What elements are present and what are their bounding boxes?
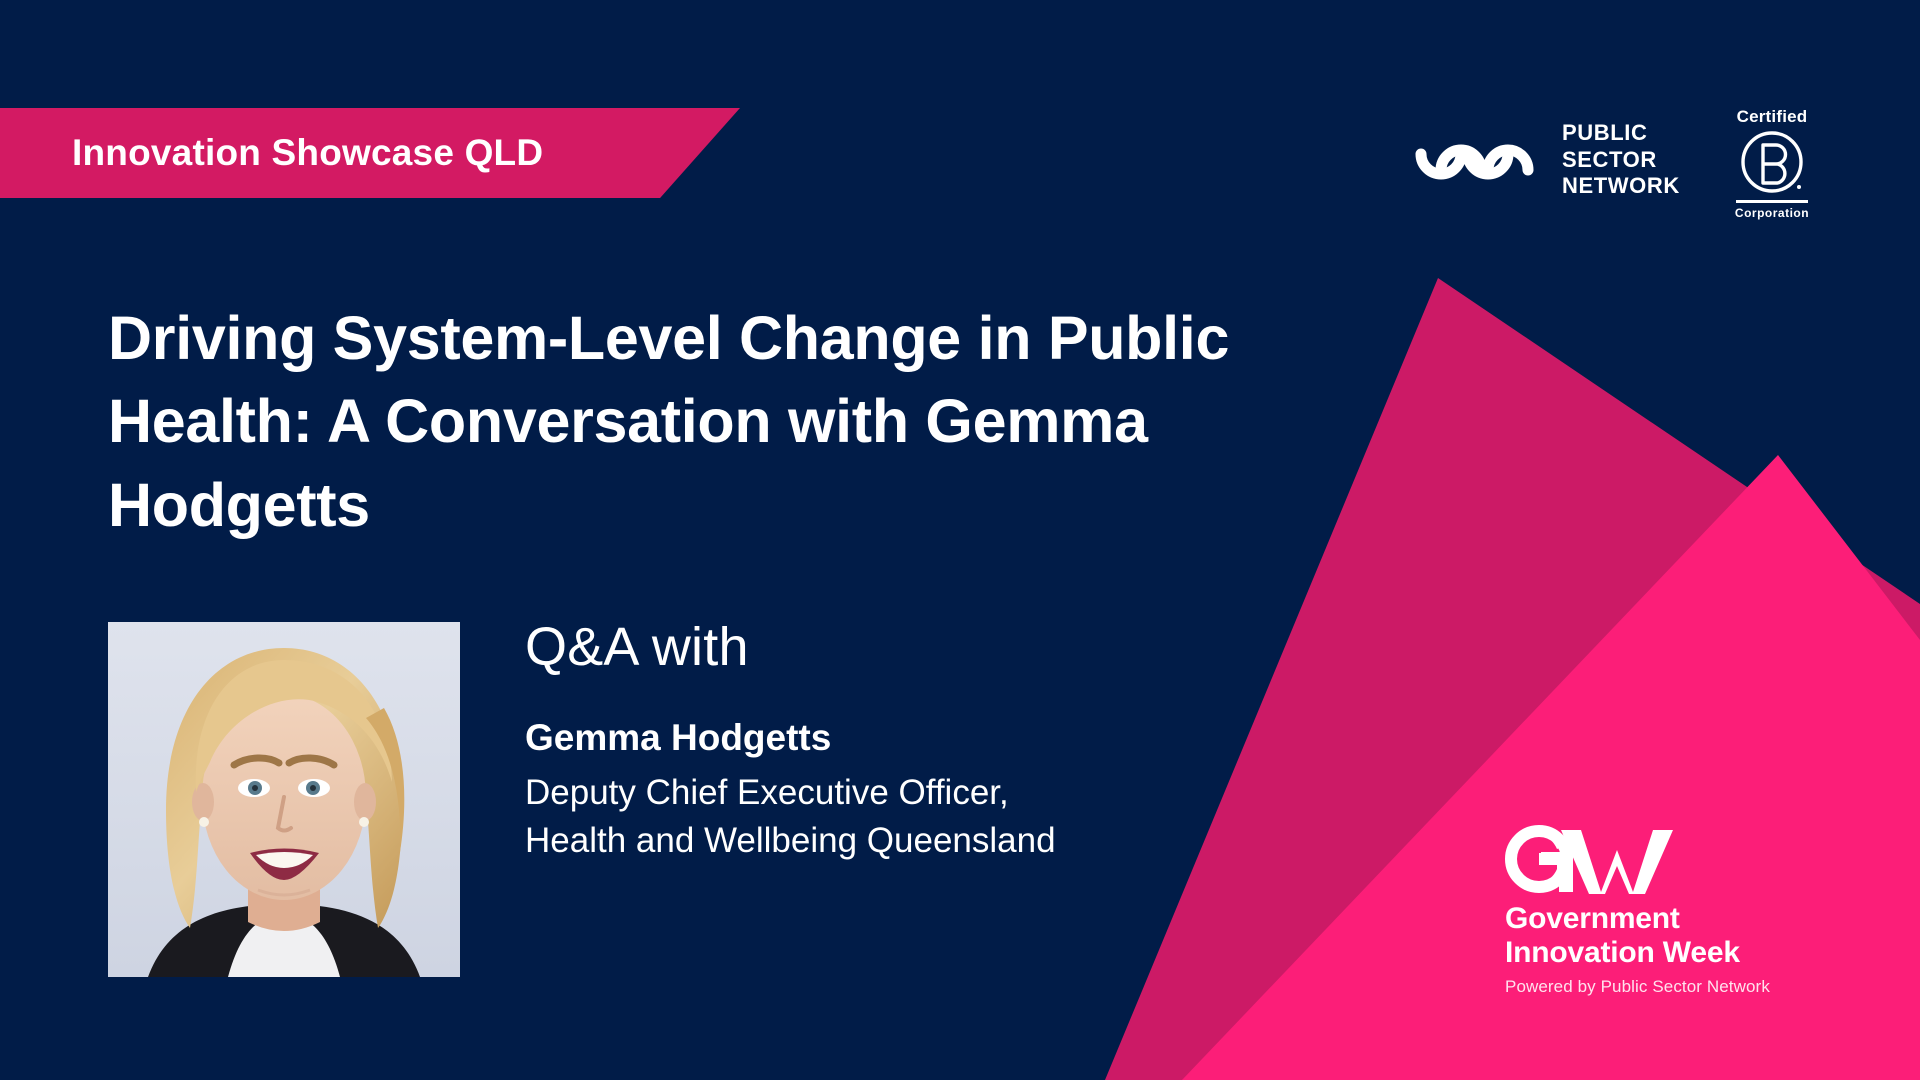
bcorp-b-icon xyxy=(1739,129,1805,195)
event-promo-slide: Innovation Showcase QLD Driving System-L… xyxy=(0,0,1920,1080)
psn-word-line-1: PUBLIC xyxy=(1562,120,1680,147)
bcorp-corporation-label: Corporation xyxy=(1718,207,1826,219)
speaker-role: Deputy Chief Executive Officer, Health a… xyxy=(525,769,1305,866)
speaker-role-line-2: Health and Wellbeing Queensland xyxy=(525,817,1305,865)
bcorp-certified-badge: Certified Corporation xyxy=(1718,108,1826,219)
giw-powered-by-label: Powered by Public Sector Network xyxy=(1505,977,1805,997)
qa-intro-label: Q&A with xyxy=(525,618,1305,677)
speaker-photo xyxy=(108,622,460,977)
event-series-label: Innovation Showcase QLD xyxy=(0,132,543,174)
bcorp-divider xyxy=(1736,200,1808,203)
interlocking-rings-icon xyxy=(1408,118,1548,202)
speaker-name: Gemma Hodgetts xyxy=(525,715,1305,761)
government-innovation-week-logo: Government Innovation Week Powered by Pu… xyxy=(1505,822,1805,997)
giw-wordmark-icon xyxy=(1505,822,1677,896)
bcorp-certified-label: Certified xyxy=(1718,108,1826,125)
giw-title-line-2: Innovation Week xyxy=(1505,936,1805,970)
speaker-role-line-1: Deputy Chief Executive Officer, xyxy=(525,769,1305,817)
public-sector-network-logo: PUBLIC SECTOR NETWORK xyxy=(1408,118,1680,202)
session-title: Driving System-Level Change in Public He… xyxy=(108,297,1338,548)
giw-title-line-1: Government xyxy=(1505,902,1805,936)
psn-word-line-2: SECTOR xyxy=(1562,147,1680,174)
speaker-details: Q&A with Gemma Hodgetts Deputy Chief Exe… xyxy=(525,618,1305,865)
psn-word-line-3: NETWORK xyxy=(1562,173,1680,200)
event-series-ribbon: Innovation Showcase QLD xyxy=(0,108,740,198)
psn-wordmark: PUBLIC SECTOR NETWORK xyxy=(1562,120,1680,200)
